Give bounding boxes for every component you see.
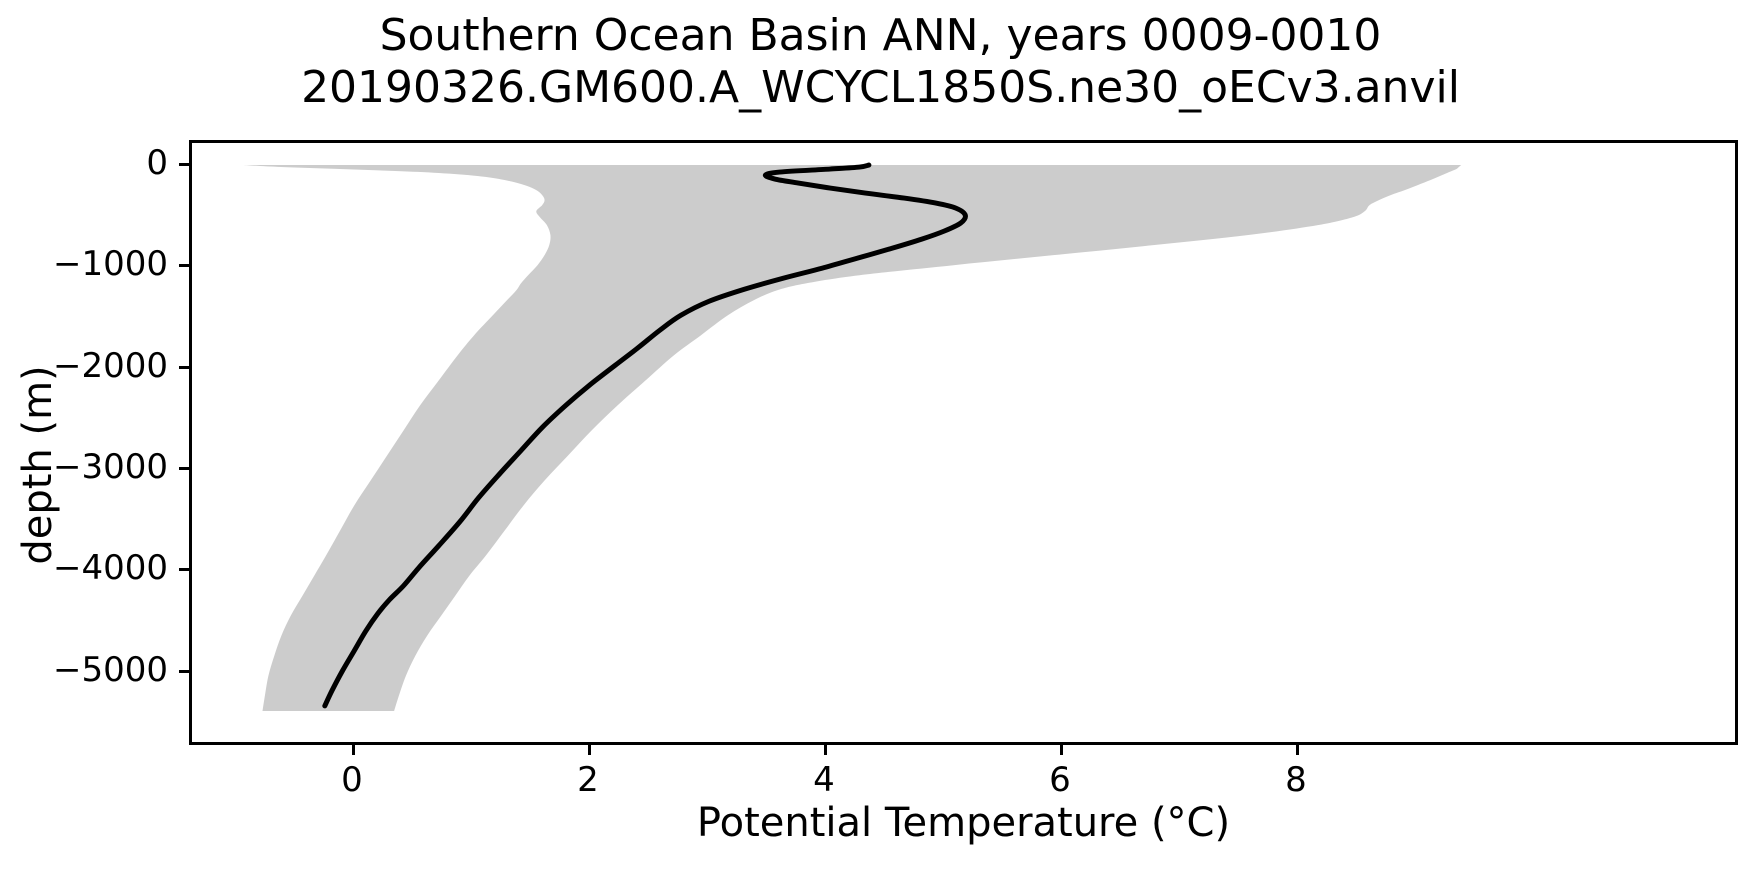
xtick-mark-6 xyxy=(1060,745,1063,755)
figure-canvas: Southern Ocean Basin ANN, years 0009-001… xyxy=(0,0,1761,882)
xtick-mark-2 xyxy=(588,745,591,755)
ytick-mark-4000 xyxy=(179,568,189,571)
band-notch xyxy=(1409,177,1735,205)
chart-title: Southern Ocean Basin ANN, years 0009-001… xyxy=(0,10,1761,114)
ytick-mark-2000 xyxy=(179,366,189,369)
xtick-label-4: 4 xyxy=(813,760,835,800)
ytick-mark-1000 xyxy=(179,264,189,267)
ytick-mark-0 xyxy=(179,163,189,166)
xtick-mark-0 xyxy=(352,745,355,755)
ytick-mark-3000 xyxy=(179,467,189,470)
ytick-label-1000: −1000 xyxy=(0,244,168,284)
xtick-mark-4 xyxy=(824,745,827,755)
xtick-label-0: 0 xyxy=(341,760,363,800)
plot-svg xyxy=(192,143,1735,742)
y-axis-label: depth (m) xyxy=(15,305,61,625)
xtick-label-6: 6 xyxy=(1049,760,1071,800)
minmax-band xyxy=(243,165,1462,711)
xtick-label-8: 8 xyxy=(1285,760,1307,800)
x-axis-label: Potential Temperature (°C) xyxy=(189,800,1738,846)
xtick-mark-8 xyxy=(1296,745,1299,755)
ytick-mark-5000 xyxy=(179,670,189,673)
ytick-label-0: 0 xyxy=(0,143,168,183)
xtick-label-2: 2 xyxy=(577,760,599,800)
plot-area[interactable] xyxy=(189,140,1738,745)
ytick-label-5000: −5000 xyxy=(0,650,168,690)
